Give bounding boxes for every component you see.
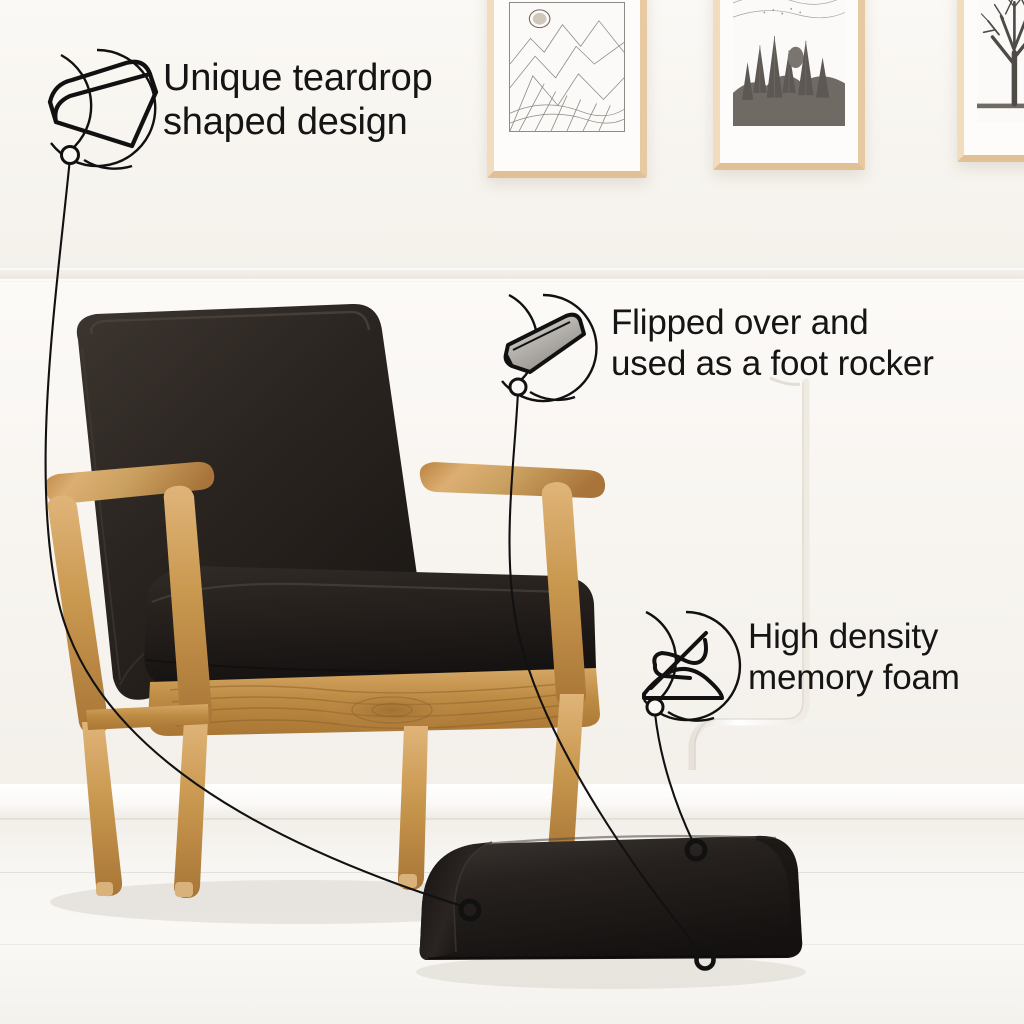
chair-rail-highlight bbox=[0, 279, 1024, 282]
framed-print-1 bbox=[487, 0, 647, 178]
chair-rail-shadow bbox=[0, 272, 1024, 279]
infographic-canvas: Unique teardrop shaped design Flipped ov… bbox=[0, 0, 1024, 1024]
callout-label-foot-rocker: Flipped over and used as a foot rocker bbox=[611, 303, 934, 384]
callout-label-teardrop: Unique teardrop shaped design bbox=[163, 56, 433, 144]
framed-print-2 bbox=[713, 0, 865, 170]
bare-tree-art bbox=[977, 0, 1024, 122]
forest-ink-art bbox=[733, 0, 845, 126]
mountain-line-art bbox=[510, 3, 624, 131]
framed-print-3 bbox=[957, 0, 1024, 162]
callout-label-memory-foam: High density memory foam bbox=[748, 617, 960, 698]
teardrop-foot-cushion bbox=[396, 800, 816, 1020]
